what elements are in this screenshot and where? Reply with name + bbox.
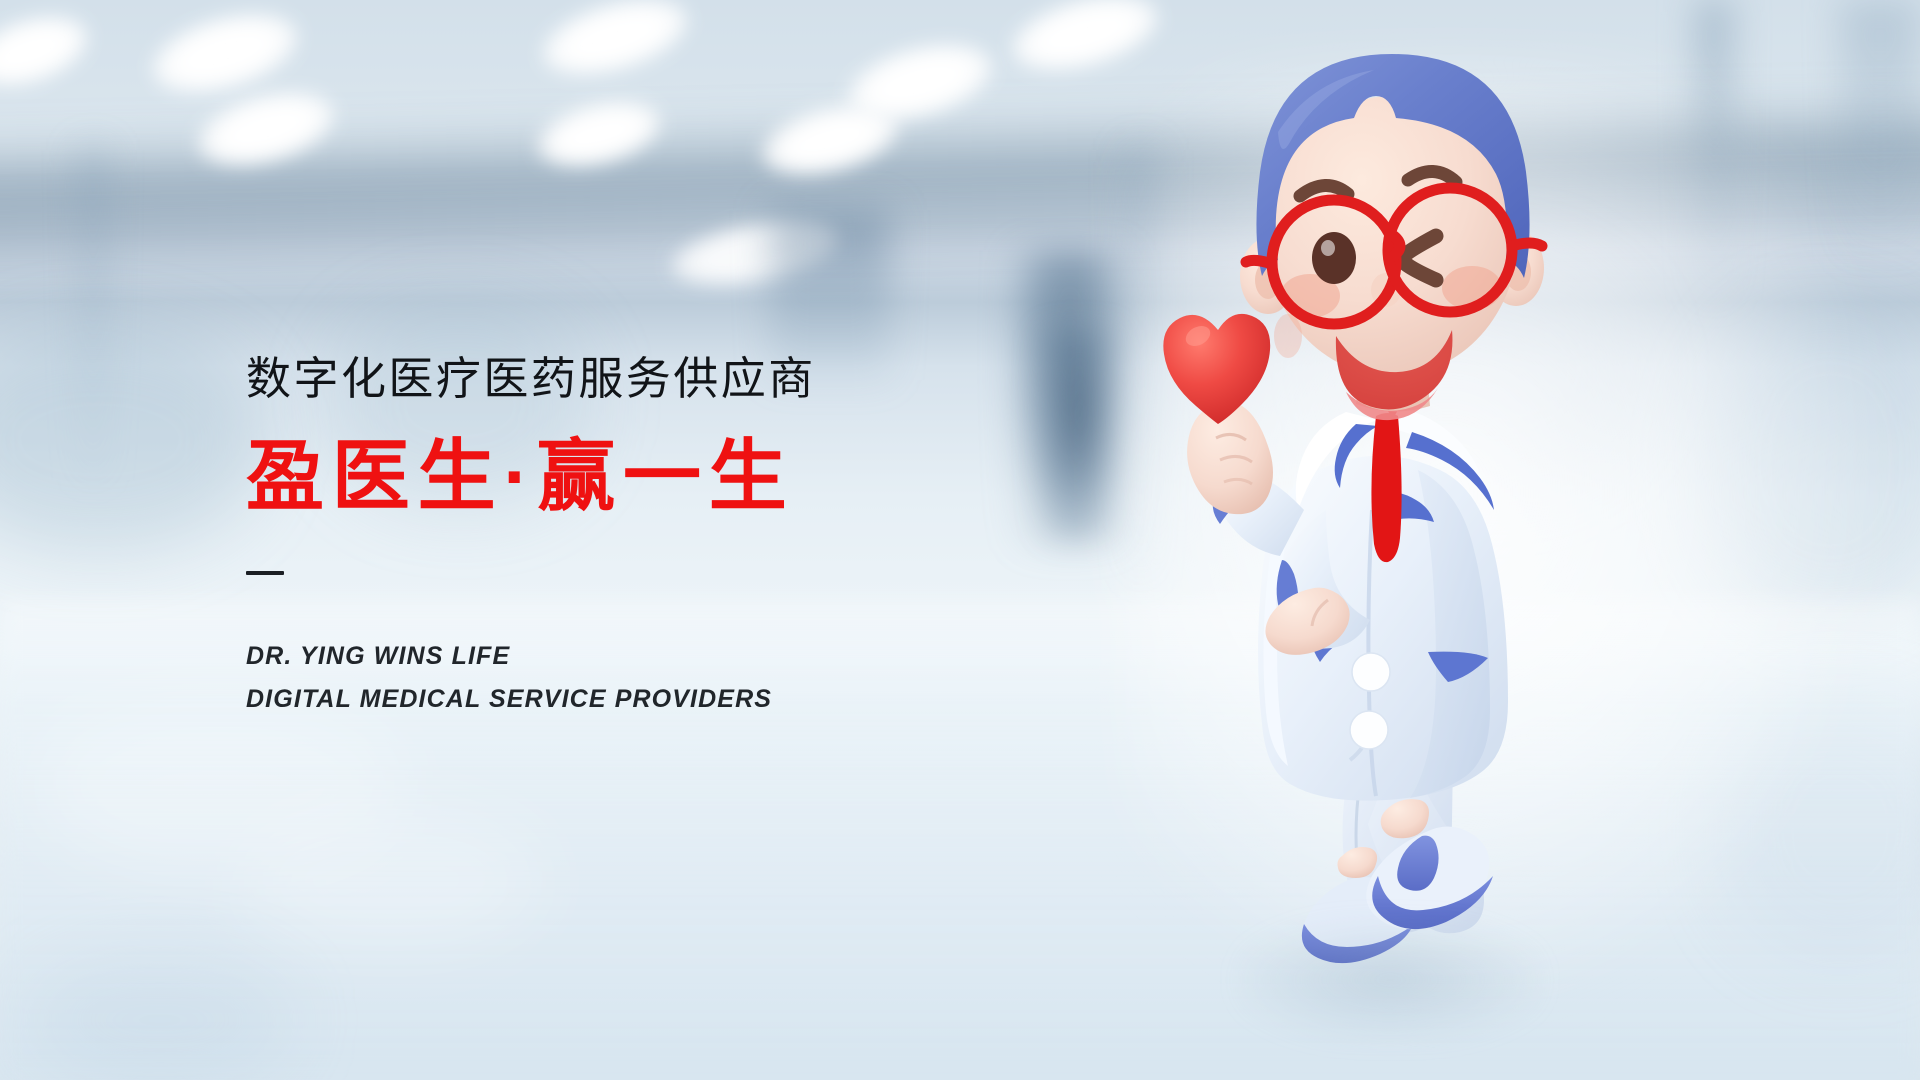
hero-kicker: 数字化医疗医药服务供应商 bbox=[246, 356, 1006, 401]
hero-subtitle-line-1: DR. YING WINS LIFE bbox=[246, 635, 1006, 678]
hero-copy-block: 数字化医疗医药服务供应商 盈医生·赢一生 DR. YING WINS LIFE … bbox=[246, 356, 1006, 721]
mascot-cheek-left-low bbox=[1274, 314, 1302, 358]
mascot-eye-open bbox=[1312, 232, 1356, 284]
mascot-illustration bbox=[1150, 40, 1630, 1050]
blurred-person-silhouette-core bbox=[1040, 330, 1120, 540]
hero-divider-rule bbox=[246, 571, 284, 575]
mascot-eye-highlight bbox=[1321, 240, 1335, 256]
hero-subtitle: DR. YING WINS LIFE DIGITAL MEDICAL SERVI… bbox=[246, 635, 1006, 721]
doctor-mascot bbox=[1150, 40, 1630, 1050]
background-blur-blob bbox=[0, 330, 260, 550]
hero-subtitle-line-2: DIGITAL MEDICAL SERVICE PROVIDERS bbox=[246, 678, 1006, 721]
hero-headline: 盈医生·赢一生 bbox=[246, 437, 1006, 515]
hero-banner: 数字化医疗医药服务供应商 盈医生·赢一生 DR. YING WINS LIFE … bbox=[0, 0, 1920, 1080]
heart-icon bbox=[1163, 314, 1270, 424]
mascot-ground-shadow bbox=[1240, 920, 1540, 1040]
